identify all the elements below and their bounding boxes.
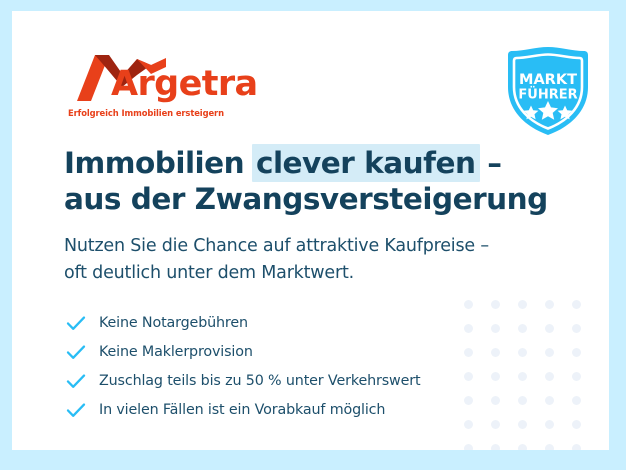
headline-line1-before: Immobilien — [64, 146, 254, 180]
decoration-dot — [464, 444, 473, 450]
list-item-label: Zuschlag teils bis zu 50 % unter Verkehr… — [99, 373, 420, 389]
decoration-dot — [545, 396, 554, 405]
list-item-label: Keine Maklerprovision — [99, 344, 253, 360]
badge-line1-text: MARKT — [519, 72, 577, 88]
list-item: Keine Notargebühren — [65, 308, 535, 337]
decoration-dot — [545, 420, 554, 429]
check-icon — [65, 370, 87, 392]
list-item: Zuschlag teils bis zu 50 % unter Verkehr… — [65, 366, 535, 395]
list-item-label: Keine Notargebühren — [99, 315, 248, 331]
banner-card: Argetra Erfolgreich Immobilien ersteiger… — [12, 11, 609, 450]
argetra-logo: Argetra Erfolgreich Immobilien ersteiger… — [67, 53, 257, 117]
decoration-dot — [518, 444, 527, 450]
check-icon — [65, 341, 87, 363]
list-item: In vielen Fällen ist ein Vorabkauf mögli… — [65, 395, 535, 424]
list-item: Keine Maklerprovision — [65, 337, 535, 366]
decoration-dot — [572, 444, 581, 450]
page-subtitle: Nutzen Sie die Chance auf attraktive Kau… — [64, 233, 584, 286]
decoration-dot — [545, 348, 554, 357]
headline-line1-after: – — [478, 146, 502, 180]
badge-line2-text: FÜHRER — [518, 87, 577, 103]
market-leader-badge: MARKT FÜHRER — [500, 45, 596, 137]
decoration-dot — [491, 444, 500, 450]
decoration-dot — [572, 372, 581, 381]
decoration-dot — [572, 300, 581, 309]
decoration-dot — [545, 372, 554, 381]
promo-banner: Argetra Erfolgreich Immobilien ersteiger… — [0, 0, 626, 470]
page-title: Immobilien clever kaufen – aus der Zwang… — [64, 145, 584, 217]
decoration-dot — [572, 420, 581, 429]
headline-highlight: clever kaufen — [252, 144, 480, 182]
subheadline-line2: oft deutlich unter dem Marktwert. — [64, 263, 354, 283]
check-icon — [65, 399, 87, 421]
decoration-dot — [572, 396, 581, 405]
benefits-list: Keine Notargebühren Keine Maklerprovisio… — [65, 308, 535, 424]
decoration-dot — [572, 324, 581, 333]
list-item-label: In vielen Fällen ist ein Vorabkauf mögli… — [99, 402, 385, 418]
decoration-dot — [545, 444, 554, 450]
headline-line2: aus der Zwangsversteigerung — [64, 182, 548, 216]
subheadline-line1: Nutzen Sie die Chance auf attraktive Kau… — [64, 236, 489, 256]
logo-wordmark: Argetra — [111, 67, 258, 102]
decoration-dot — [545, 300, 554, 309]
logo-tagline: Erfolgreich Immobilien ersteigern — [68, 108, 224, 118]
decoration-dot — [545, 324, 554, 333]
check-icon — [65, 312, 87, 334]
decoration-dot — [572, 348, 581, 357]
